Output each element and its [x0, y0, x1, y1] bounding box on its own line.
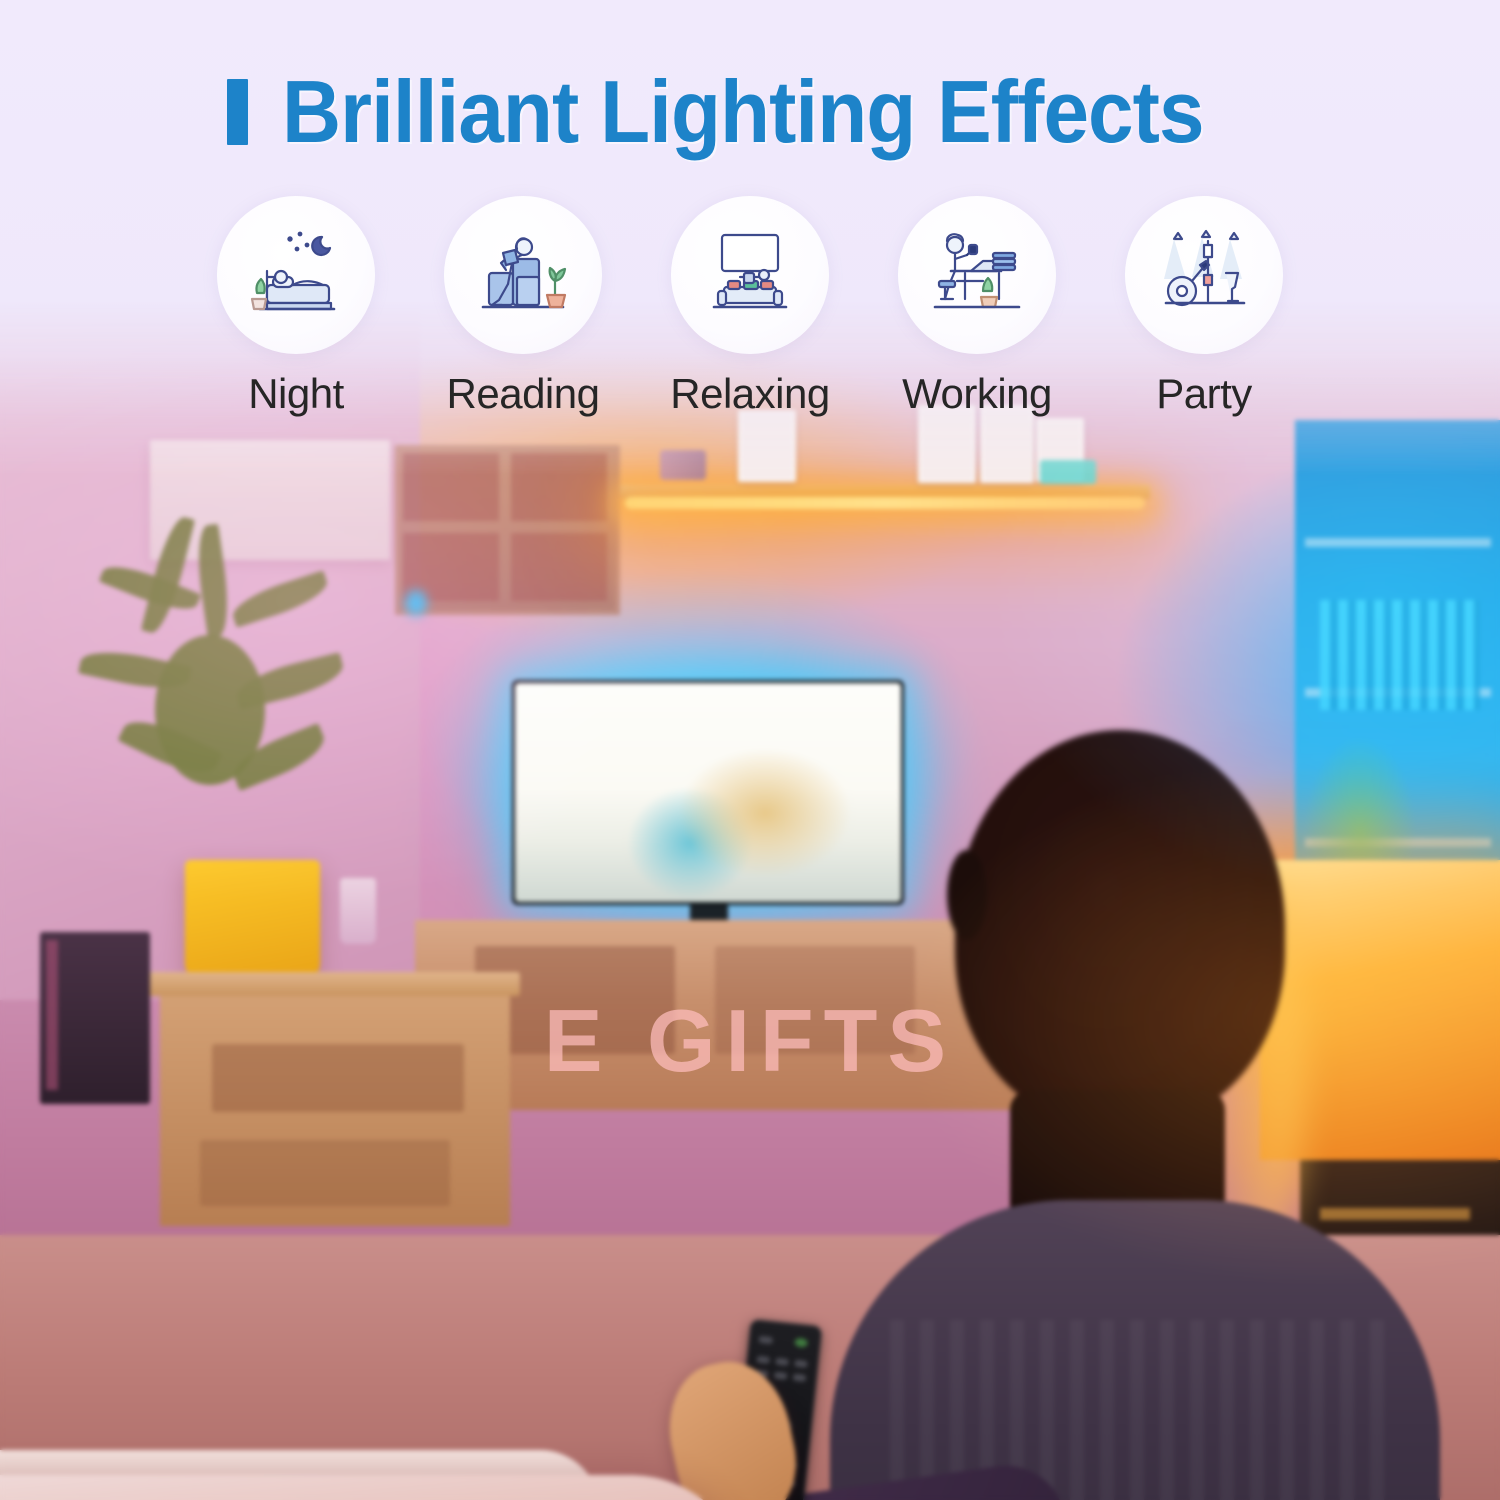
- yellow-plant-pot: [185, 860, 320, 978]
- mode-working[interactable]: Working: [875, 196, 1080, 418]
- coffee-table-top: [148, 972, 520, 996]
- left-speaker: [40, 932, 150, 1104]
- photo-fade-mask: [0, 300, 1500, 1500]
- teal-shelf-box: [1040, 460, 1096, 484]
- tv-stand: [690, 905, 728, 921]
- title-row: Brilliant Lighting Effects: [0, 0, 1500, 156]
- shelf-led-strip: [625, 497, 1145, 509]
- lifestyle-photo: E GIFTS E GIFTS WWW.EGIFTSNZ.CO.NZ WWW.E…: [0, 300, 1500, 1500]
- mode-label: Night: [248, 370, 344, 418]
- mode-icon-circle: [444, 196, 602, 354]
- working-desk-laptop-icon: [921, 219, 1033, 331]
- table-drawer: [212, 1044, 464, 1112]
- television: [512, 680, 904, 905]
- foreground-sofa: [0, 1475, 750, 1500]
- mode-icon-circle: [217, 196, 375, 354]
- wall-cube-shelf: [395, 445, 620, 615]
- mode-night[interactable]: Night: [194, 196, 399, 418]
- night-bed-moon-icon: [240, 219, 352, 331]
- reading-person-sofa-icon: [467, 219, 579, 331]
- left-plant-foliage: [60, 515, 360, 885]
- tv-screen: [515, 683, 901, 902]
- picture-frame: [738, 410, 796, 482]
- mode-icon-circle: [671, 196, 829, 354]
- books-stack: [1320, 600, 1480, 710]
- mode-label: Party: [1156, 370, 1252, 418]
- person-head-silhouette: [955, 730, 1285, 1125]
- relaxing-tv-sofa-icon: [694, 219, 806, 331]
- mode-icon-circle: [1125, 196, 1283, 354]
- page-title: Brilliant Lighting Effects: [282, 68, 1204, 156]
- shelf-trinket: [660, 450, 706, 480]
- mode-label: Reading: [447, 370, 600, 418]
- mode-reading[interactable]: Reading: [421, 196, 626, 418]
- title-bar-mark: [227, 79, 248, 145]
- drinking-glass: [340, 878, 376, 944]
- poster-header: Brilliant Lighting Effects: [0, 0, 1500, 156]
- mode-label: Working: [902, 370, 1052, 418]
- mode-relaxing[interactable]: Relaxing: [648, 196, 853, 418]
- party-guitar-bottle-icon: [1148, 219, 1260, 331]
- mode-party[interactable]: Party: [1102, 196, 1307, 418]
- table-drawer: [200, 1140, 450, 1206]
- blue-indicator-light: [405, 590, 427, 616]
- product-poster: E GIFTS E GIFTS WWW.EGIFTSNZ.CO.NZ WWW.E…: [0, 0, 1500, 1500]
- lighting-modes-row: Night: [0, 196, 1500, 418]
- mode-label: Relaxing: [670, 370, 829, 418]
- mode-icon-circle: [898, 196, 1056, 354]
